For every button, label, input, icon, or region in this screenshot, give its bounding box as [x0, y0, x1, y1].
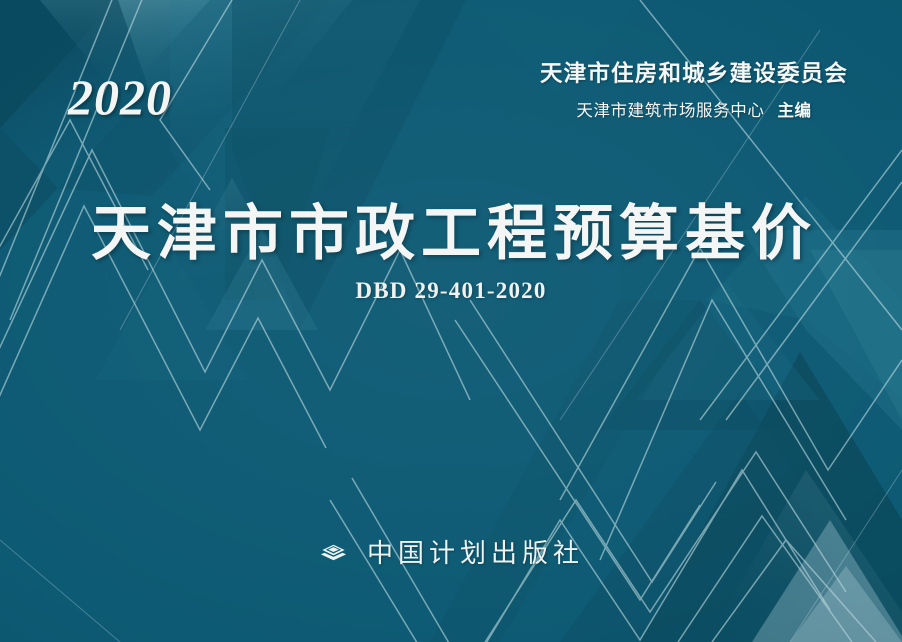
publisher-block: 中国计划出版社 [0, 533, 902, 570]
compiler-role: 主编 [777, 102, 811, 120]
stacked-book-icon [318, 536, 349, 567]
publisher-name: 中国计划出版社 [362, 533, 584, 570]
page-title: 天津市市政工程预算基价 [0, 185, 902, 272]
cover-year: 2020 [0, 68, 240, 126]
issuing-organization: 天津市住房和城乡建设委员会 [524, 60, 864, 88]
book-cover: 2020 天津市住房和城乡建设委员会 天津市建筑市场服务中心主编 天津市市政工程… [0, 0, 902, 642]
standard-code: DBD 29-401-2020 [0, 278, 902, 304]
compiler-line: 天津市建筑市场服务中心主编 [524, 97, 864, 121]
issuer-block: 天津市住房和城乡建设委员会 天津市建筑市场服务中心主编 [524, 60, 864, 121]
compiler-organization: 天津市建筑市场服务中心 [576, 102, 764, 120]
